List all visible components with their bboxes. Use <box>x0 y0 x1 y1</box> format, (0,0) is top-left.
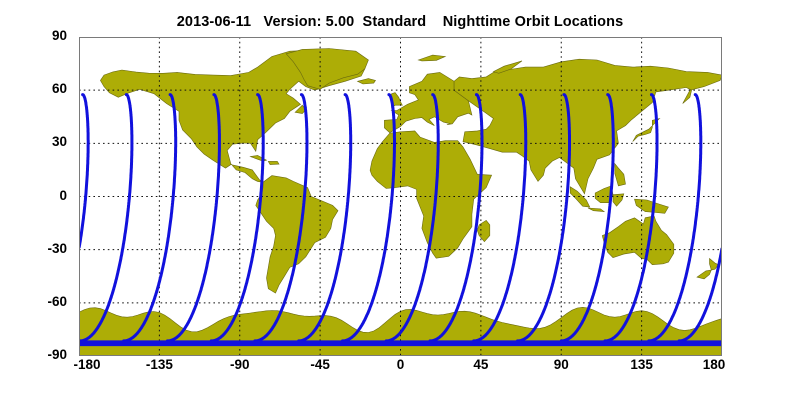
plot-area <box>79 37 722 356</box>
y-tick--30: -30 <box>47 241 73 256</box>
x-axis-tick-labels: -180-135-90-4504590135180 <box>79 357 722 379</box>
x-tick--45: -45 <box>310 357 330 372</box>
x-tick--135: -135 <box>146 357 173 372</box>
x-tick-180: 180 <box>703 357 726 372</box>
x-tick-135: 135 <box>630 357 653 372</box>
y-tick--90: -90 <box>47 347 73 362</box>
y-tick-60: 60 <box>52 81 73 96</box>
x-tick-90: 90 <box>554 357 569 372</box>
plot-frame <box>79 37 722 356</box>
x-tick--90: -90 <box>230 357 250 372</box>
y-tick-90: 90 <box>52 28 73 43</box>
x-tick--180: -180 <box>73 357 100 372</box>
y-axis-tick-labels: -90-60-300306090 <box>0 37 73 356</box>
y-tick-0: 0 <box>59 188 73 203</box>
orbit-map-figure: 2013-06-11 Version: 5.00 Standard Nightt… <box>0 0 800 400</box>
x-tick-45: 45 <box>473 357 488 372</box>
x-tick-0: 0 <box>397 357 405 372</box>
figure-title: 2013-06-11 Version: 5.00 Standard Nightt… <box>0 14 800 30</box>
y-tick-30: 30 <box>52 134 73 149</box>
y-tick--60: -60 <box>47 294 73 309</box>
